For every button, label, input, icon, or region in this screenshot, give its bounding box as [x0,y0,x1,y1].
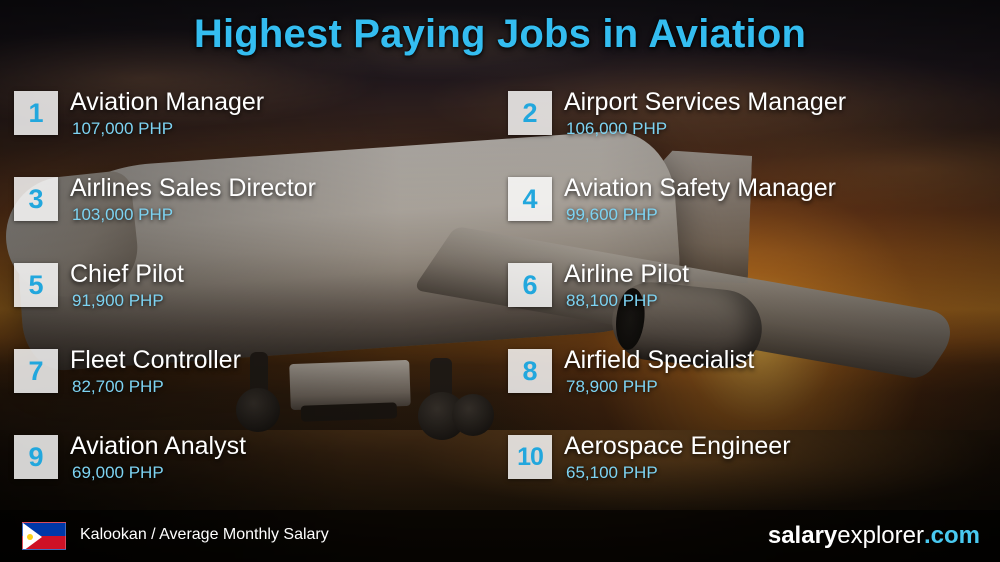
brand-name-bold: salary [768,522,837,549]
footer-bar: Kalookan / Average Monthly Salary salary… [0,510,1000,562]
job-salary: 106,000 PHP [566,119,667,139]
job-title: Airline Pilot [564,260,689,289]
job-salary: 78,900 PHP [566,377,658,397]
list-item[interactable]: 8 Airfield Specialist 78,900 PHP [508,346,978,432]
page-title: Highest Paying Jobs in Aviation [0,12,1000,57]
list-item[interactable]: 5 Chief Pilot 91,900 PHP [14,260,484,346]
list-item[interactable]: 7 Fleet Controller 82,700 PHP [14,346,484,432]
job-title: Aviation Analyst [70,432,246,461]
jobs-column-right: 2 Airport Services Manager 106,000 PHP 4… [508,88,978,518]
list-item[interactable]: 4 Aviation Safety Manager 99,600 PHP [508,174,978,260]
job-title: Airlines Sales Director [70,174,316,203]
job-title: Airport Services Manager [564,88,846,117]
job-title: Aerospace Engineer [564,432,791,461]
rank-badge: 3 [14,177,58,221]
job-title: Airfield Specialist [564,346,754,375]
rank-badge: 4 [508,177,552,221]
infographic-canvas: Highest Paying Jobs in Aviation 1 Aviati… [0,0,1000,562]
jobs-column-left: 1 Aviation Manager 107,000 PHP 3 Airline… [14,88,484,518]
rank-badge: 2 [508,91,552,135]
footer-caption: Kalookan / Average Monthly Salary [80,526,329,544]
list-item[interactable]: 9 Aviation Analyst 69,000 PHP [14,432,484,518]
rank-badge: 5 [14,263,58,307]
job-title: Fleet Controller [70,346,241,375]
job-salary: 82,700 PHP [72,377,164,397]
job-salary: 88,100 PHP [566,291,658,311]
philippines-flag-icon [22,522,66,550]
rank-badge: 9 [14,435,58,479]
flag-sun-icon [27,534,33,540]
brand-logo[interactable]: salaryexplorer.com [768,522,980,550]
job-salary: 107,000 PHP [72,119,173,139]
job-title: Aviation Manager [70,88,264,117]
rank-badge: 6 [508,263,552,307]
jobs-list: 1 Aviation Manager 107,000 PHP 3 Airline… [0,88,1000,498]
infographic-content: Highest Paying Jobs in Aviation 1 Aviati… [0,0,1000,562]
job-salary: 69,000 PHP [72,463,164,483]
brand-name-thin: explorer [837,522,924,549]
job-salary: 103,000 PHP [72,205,173,225]
job-title: Aviation Safety Manager [564,174,836,203]
rank-badge: 8 [508,349,552,393]
brand-domain: .com [924,522,980,549]
rank-badge: 10 [508,435,552,479]
list-item[interactable]: 2 Airport Services Manager 106,000 PHP [508,88,978,174]
list-item[interactable]: 1 Aviation Manager 107,000 PHP [14,88,484,174]
list-item[interactable]: 3 Airlines Sales Director 103,000 PHP [14,174,484,260]
list-item[interactable]: 10 Aerospace Engineer 65,100 PHP [508,432,978,518]
list-item[interactable]: 6 Airline Pilot 88,100 PHP [508,260,978,346]
rank-badge: 1 [14,91,58,135]
job-salary: 91,900 PHP [72,291,164,311]
job-title: Chief Pilot [70,260,184,289]
job-salary: 99,600 PHP [566,205,658,225]
job-salary: 65,100 PHP [566,463,658,483]
rank-badge: 7 [14,349,58,393]
